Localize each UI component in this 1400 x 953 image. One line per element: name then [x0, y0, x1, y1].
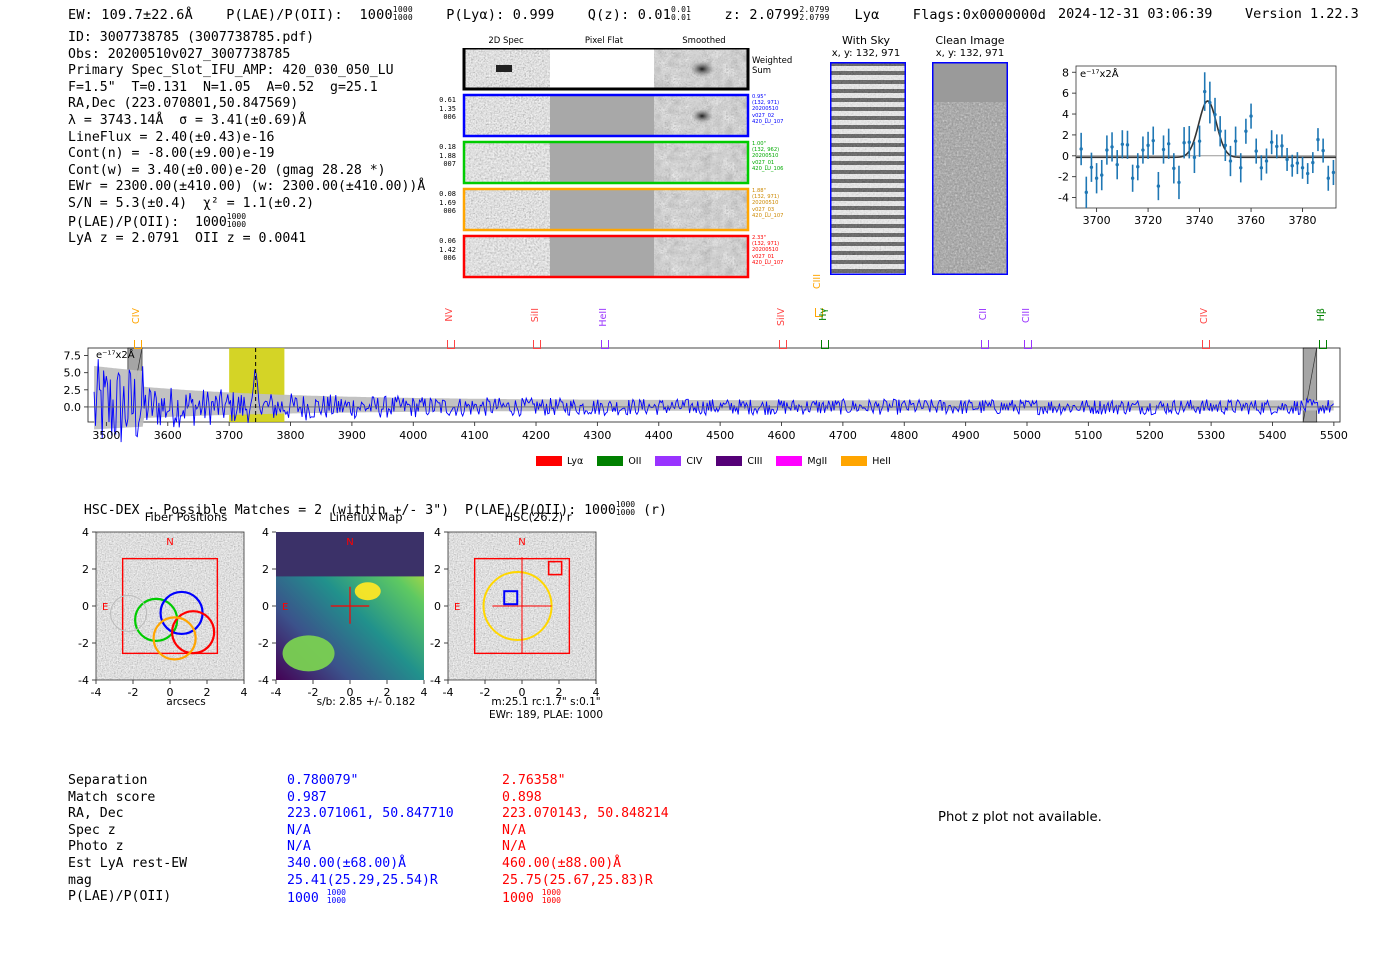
svg-text:2: 2 [82, 563, 89, 576]
match-table-column-1: 0.780079"0.987223.071061, 50.847710N/AN/… [287, 773, 454, 908]
match-table-cell: 0.780079" [287, 773, 454, 790]
panel-title-lineflux-map: Lineflux Map [276, 510, 456, 524]
header-flags: Flags:0x0000000d [913, 7, 1046, 23]
info-lambda: λ = 3743.14Å σ = 3.41(±0.69)Å [68, 113, 425, 130]
legend-swatch-civ [655, 456, 681, 466]
svg-text:e⁻¹⁷x2Å: e⁻¹⁷x2Å [1080, 67, 1119, 80]
spec2d-row2-side-label: 1.00" (132, 962) 20200510 v027_01 420_LU… [752, 141, 783, 172]
match-table-cell: Match score [68, 790, 187, 807]
info-lineflux: LineFlux = 2.40(±0.43)e-16 [68, 130, 425, 147]
legend-swatch-ciii [716, 456, 742, 466]
dex-panel-0: NE-4-4-2-2002244 [78, 526, 247, 699]
svg-text:E: E [454, 602, 460, 613]
emission-line-labels: CIVNVSiIIHeIISiIVCIIIHγCIICIIICIVHβ [0, 262, 1400, 352]
cutout-clean-title: Clean Image [924, 34, 1016, 47]
info-radec: RA,Dec (223.070801,50.847569) [68, 96, 425, 113]
info-primary-spec: Primary Spec_Slot_IFU_AMP: 420_030_050_L… [68, 63, 425, 80]
info-cont-w: Cont(w) = 3.40(±0.00)e-20 (gmag 28.28 *) [68, 163, 425, 180]
emission-line-civ-9: CIV [1200, 308, 1210, 324]
match-table-cell: 1000 10001000 [287, 889, 454, 907]
svg-text:0: 0 [262, 600, 269, 613]
match-table-cell: 0.898 [502, 790, 669, 807]
spec2d-title-2dspec: 2D Spec [462, 36, 550, 46]
match-table-cell: 0.987 [287, 790, 454, 807]
match-table-cell: 1000 10001000 [502, 889, 669, 907]
svg-text:3740: 3740 [1186, 214, 1214, 227]
svg-text:-2: -2 [78, 637, 89, 650]
match-table: SeparationMatch scoreRA, DecSpec zPhoto … [68, 773, 768, 913]
svg-text:4800: 4800 [890, 429, 918, 442]
match-table-cell: P(LAE)/P(OII) [68, 889, 187, 906]
match-table-column-2: 2.76358"0.898223.070143, 50.848214N/AN/A… [502, 773, 669, 908]
svg-text:-2: -2 [430, 637, 441, 650]
spec2d-row1-side-label: 0.95" (132, 971) 20200510 v027_02 420_LU… [752, 94, 783, 125]
legend-label-oii: OII [628, 456, 641, 467]
header-meta: 2024-12-31 03:06:39 Version 1.22.3 [1058, 6, 1359, 22]
svg-text:4900: 4900 [952, 429, 980, 442]
emission-line-cii-7: CII [979, 308, 989, 320]
svg-text:2: 2 [434, 563, 441, 576]
header-plae-fraction: 10001000 [393, 6, 413, 22]
svg-text:N: N [166, 537, 173, 548]
svg-text:-4: -4 [258, 674, 269, 687]
emission-line-hγ-6: Hγ [819, 308, 829, 321]
cutout-with-sky-coords: x, y: 132, 971 [814, 48, 918, 59]
match-table-cell: RA, Dec [68, 806, 187, 823]
legend-item-ciii: CIII [716, 456, 762, 467]
legend-item-oii: OII [597, 456, 641, 467]
svg-text:4000: 4000 [399, 429, 427, 442]
header-version: Version 1.22.3 [1245, 6, 1359, 22]
header-z-fraction: 2.07992.0799 [799, 6, 829, 22]
svg-text:8: 8 [1062, 66, 1069, 79]
svg-text:5300: 5300 [1197, 429, 1225, 442]
header-plae-value: 1000 [359, 7, 392, 23]
match-table-cell: Separation [68, 773, 187, 790]
header-ew: EW: 109.7±22.6Å [68, 7, 193, 23]
spec2d-title-smoothed: Smoothed [658, 36, 750, 46]
header-qz: Q(z): 0.01 [588, 7, 671, 23]
panel-caption-hsc: m:25.1 rc:1.7" s:0.1" EWr: 189, PLAE: 10… [446, 696, 646, 722]
svg-text:-4: -4 [78, 674, 89, 687]
info-plae-fraction: 10001000 [227, 213, 246, 229]
emission-line-tick-8 [1024, 340, 1032, 349]
emission-line-tick-7 [981, 340, 989, 349]
legend-item-lyα: Lyα [536, 456, 583, 467]
emission-line-hβ-10: Hβ [1317, 308, 1327, 321]
svg-text:5100: 5100 [1074, 429, 1102, 442]
svg-text:3700: 3700 [215, 429, 243, 442]
header-plya: P(Lyα): 0.999 [446, 7, 554, 23]
svg-text:4: 4 [262, 526, 269, 539]
svg-text:3600: 3600 [154, 429, 182, 442]
panel-title-hsc-r: HSC(26.2) r [448, 510, 628, 524]
spec2d-row3-left-label: 0.08 1.69 006 [414, 190, 456, 216]
svg-text:0: 0 [82, 600, 89, 613]
cutout-with-sky-image [830, 62, 906, 275]
emission-line-tick-3 [601, 340, 609, 349]
svg-text:4400: 4400 [645, 429, 673, 442]
svg-text:4: 4 [82, 526, 89, 539]
match-table-cell: N/A [502, 839, 669, 856]
emission-line-heii-3: HeII [599, 308, 609, 327]
svg-text:4100: 4100 [461, 429, 489, 442]
emission-line-civ-0: CIV [132, 308, 142, 324]
svg-text:3900: 3900 [338, 429, 366, 442]
match-table-cell: 25.41(25.29,25.54)R [287, 873, 454, 890]
header-timestamp: 2024-12-31 03:06:39 [1058, 6, 1212, 22]
legend-label-mgii: MgII [807, 456, 827, 467]
emission-line-nv-1: NV [445, 308, 455, 322]
source-info-block: ID: 3007738785 (3007738785.pdf) Obs: 202… [68, 30, 425, 248]
svg-text:-4: -4 [430, 674, 441, 687]
legend-item-civ: CIV [655, 456, 702, 467]
svg-text:4500: 4500 [706, 429, 734, 442]
legend-label-civ: CIV [686, 456, 702, 467]
emission-line-tick-2 [533, 340, 541, 349]
info-plae: P(LAE)/P(OII): 100010001000 [68, 213, 425, 231]
legend-label-ciii: CIII [747, 456, 762, 467]
header-line-id: Lyα [854, 7, 879, 23]
match-table-cell: 223.070143, 50.848214 [502, 806, 669, 823]
spectrum-legend: LyαOIICIVCIIIMgIIHeII [536, 451, 905, 470]
emission-line-tick-4 [779, 340, 787, 349]
legend-swatch-heii [841, 456, 867, 466]
dex-panel-2: NE-4-4-2-2002244 [430, 526, 599, 699]
svg-text:0: 0 [434, 600, 441, 613]
legend-swatch-mgii [776, 456, 802, 466]
line-fit-plot: 37003720374037603780-4-202468e⁻¹⁷x2Å [1032, 52, 1344, 242]
svg-text:3500: 3500 [92, 429, 120, 442]
svg-text:3760: 3760 [1237, 214, 1265, 227]
svg-text:6: 6 [1062, 87, 1069, 100]
cutout-with-sky-title: With Sky [826, 34, 906, 47]
svg-text:-2: -2 [258, 637, 269, 650]
spec2d-weighted-sum-label: Weighted Sum [752, 56, 792, 76]
svg-text:0: 0 [1062, 150, 1069, 163]
match-table-cell: N/A [502, 823, 669, 840]
header-plae-label: P(LAE)/P(OII): [226, 7, 343, 23]
svg-text:5200: 5200 [1136, 429, 1164, 442]
info-cont-n: Cont(n) = -8.00(±9.00)e-19 [68, 146, 425, 163]
spec2d-row1-left-label: 0.61 1.35 006 [414, 96, 456, 122]
emission-line-siii-2: SiII [531, 308, 541, 322]
legend-label-lyα: Lyα [567, 456, 583, 467]
svg-text:E: E [102, 602, 108, 613]
match-table-cell: 340.00(±68.00)Å [287, 856, 454, 873]
match-table-labels: SeparationMatch scoreRA, DecSpec zPhoto … [68, 773, 187, 906]
svg-text:3700: 3700 [1083, 214, 1111, 227]
legend-swatch-lyα [536, 456, 562, 466]
header-summary-line: EW: 109.7±22.6Å P(LAE)/P(OII): 100010001… [68, 6, 1046, 23]
match-table-cell: 2.76358" [502, 773, 669, 790]
emission-line-ciii-8: CIII [1022, 308, 1032, 323]
svg-text:-4: -4 [1058, 192, 1069, 205]
match-table-cell: 460.00(±88.00)Å [502, 856, 669, 873]
match-table-cell: N/A [287, 823, 454, 840]
panel-caption-lineflux: s/b: 2.85 +/- 0.182 [276, 696, 456, 709]
svg-text:3780: 3780 [1289, 214, 1317, 227]
svg-text:N: N [346, 537, 353, 548]
svg-text:4600: 4600 [768, 429, 796, 442]
info-redshifts: LyA z = 2.0791 OII z = 0.0041 [68, 231, 425, 248]
header-qz-fraction: 0.010.01 [671, 6, 691, 22]
emission-line-siiv-4: SiIV [777, 308, 787, 326]
svg-text:5500: 5500 [1320, 429, 1348, 442]
svg-text:4200: 4200 [522, 429, 550, 442]
photoz-note: Phot z plot not available. [938, 810, 1102, 825]
svg-text:4: 4 [434, 526, 441, 539]
full-spectrum-section: 3500360037003800390040004100420043004400… [0, 262, 1400, 477]
svg-text:-2: -2 [1058, 171, 1069, 184]
svg-text:5000: 5000 [1013, 429, 1041, 442]
cutout-clean-coords: x, y: 132, 971 [916, 48, 1024, 59]
panel-xlabel-fiber: arcsecs [96, 696, 276, 709]
legend-item-mgii: MgII [776, 456, 827, 467]
svg-text:2: 2 [262, 563, 269, 576]
dex-panel-1: NE-4-4-2-2002244 [258, 526, 427, 699]
header-z: z: 2.0799 [724, 7, 799, 23]
emission-line-tick-10 [1319, 340, 1327, 349]
match-table-cell: 25.75(25.67,25.83)R [502, 873, 669, 890]
match-table-cell: mag [68, 873, 187, 890]
info-params: F=1.5" T=0.131 N=1.05 A=0.52 g=25.1 [68, 80, 425, 97]
match-table-cell: Spec z [68, 823, 187, 840]
spec2d-row4-left-label: 0.06 1.42 006 [414, 237, 456, 263]
legend-item-heii: HeII [841, 456, 891, 467]
svg-text:E: E [282, 602, 288, 613]
svg-text:4300: 4300 [583, 429, 611, 442]
spec2d-image-stack [462, 48, 792, 280]
info-ewr: EWr = 2300.00(±410.00) (w: 2300.00(±410.… [68, 179, 425, 196]
info-id: ID: 3007738785 (3007738785.pdf) [68, 30, 425, 47]
svg-text:3720: 3720 [1134, 214, 1162, 227]
spec2d-section: 2D Spec Pixel Flat Smoothed [462, 36, 792, 246]
spec2d-row3-side-label: 1.88" (132, 971) 20200510 v027_03 420_LU… [752, 188, 783, 219]
svg-text:2.5: 2.5 [64, 384, 82, 397]
svg-text:5.0: 5.0 [64, 367, 82, 380]
spec2d-row2-left-label: 0.18 1.88 007 [414, 143, 456, 169]
svg-text:3800: 3800 [277, 429, 305, 442]
info-obs: Obs: 20200510v027_3007738785 [68, 47, 425, 64]
match-table-cell: Photo z [68, 839, 187, 856]
match-table-cell: 223.071061, 50.847710 [287, 806, 454, 823]
svg-text:0.0: 0.0 [64, 401, 82, 414]
panel-title-fiber-positions: Fiber Positions [96, 510, 276, 524]
emission-line-tick-6 [821, 340, 829, 349]
info-sn-chi2: S/N = 5.3(±0.4) χ² = 1.1(±0.2) [68, 196, 425, 213]
spec2d-title-pixelflat: Pixel Flat [554, 36, 654, 46]
emission-line-tick-0 [134, 340, 142, 349]
emission-line-tick-1 [447, 340, 455, 349]
match-table-cell: Est LyA rest-EW [68, 856, 187, 873]
svg-text:4: 4 [1062, 108, 1069, 121]
emission-line-tick-9 [1202, 340, 1210, 349]
emission-line-ciii-5: CIII [813, 274, 823, 289]
dex-panels: Fiber Positions Lineflux Map HSC(26.2) r… [60, 510, 660, 730]
svg-text:4700: 4700 [829, 429, 857, 442]
legend-label-heii: HeII [872, 456, 891, 467]
match-table-cell: N/A [287, 839, 454, 856]
svg-text:5400: 5400 [1258, 429, 1286, 442]
svg-text:N: N [518, 537, 525, 548]
svg-text:2: 2 [1062, 129, 1069, 142]
cutout-clean-image-img [932, 62, 1008, 275]
legend-swatch-oii [597, 456, 623, 466]
